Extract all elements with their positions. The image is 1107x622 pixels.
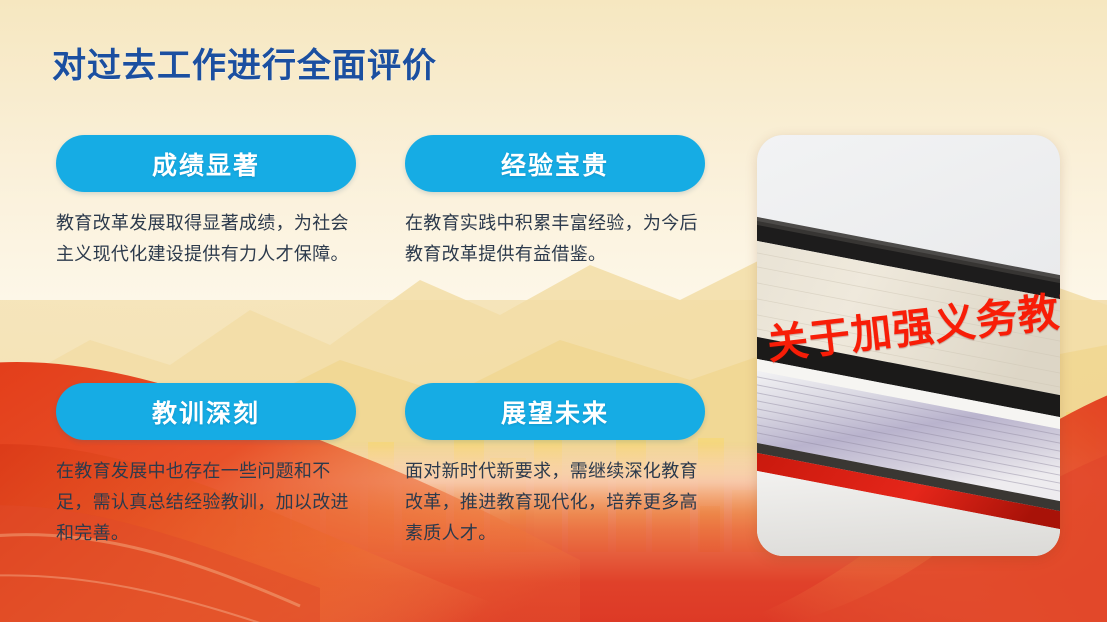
card-heading-label: 展望未来 [501,394,609,430]
slide-canvas: 对过去工作进行全面评价 成绩显著 教育改革发展取得显著成绩，为社会主义现代化建设… [0,0,1107,622]
page-title: 对过去工作进行全面评价 [52,38,437,87]
card-body-text: 面对新时代新要求，需继续深化教育改革，推进教育现代化，培养更多高素质人才。 [405,456,705,549]
card-heading-label: 教训深刻 [152,394,260,430]
card-body-text: 在教育发展中也存在一些问题和不足，需认真总结经验教训，加以改进和完善。 [56,456,356,549]
book-photo: 关于加强义务教育学校考 [757,135,1060,556]
info-card-achievements: 成绩显著 教育改革发展取得显著成绩，为社会主义现代化建设提供有力人才保障。 [56,135,356,270]
card-heading-pill[interactable]: 经验宝贵 [405,135,705,192]
card-body-text: 教育改革发展取得显著成绩，为社会主义现代化建设提供有力人才保障。 [56,208,356,270]
card-heading-label: 成绩显著 [152,146,260,182]
info-card-lessons: 教训深刻 在教育发展中也存在一些问题和不足，需认真总结经验教训，加以改进和完善。 [56,383,356,549]
card-body-text: 在教育实践中积累丰富经验，为今后教育改革提供有益借鉴。 [405,208,705,270]
card-heading-label: 经验宝贵 [501,146,609,182]
book-photo-illustration [757,135,1060,556]
card-heading-pill[interactable]: 教训深刻 [56,383,356,440]
card-heading-pill[interactable]: 展望未来 [405,383,705,440]
info-card-outlook: 展望未来 面对新时代新要求，需继续深化教育改革，推进教育现代化，培养更多高素质人… [405,383,705,549]
card-heading-pill[interactable]: 成绩显著 [56,135,356,192]
info-card-experience: 经验宝贵 在教育实践中积累丰富经验，为今后教育改革提供有益借鉴。 [405,135,705,270]
